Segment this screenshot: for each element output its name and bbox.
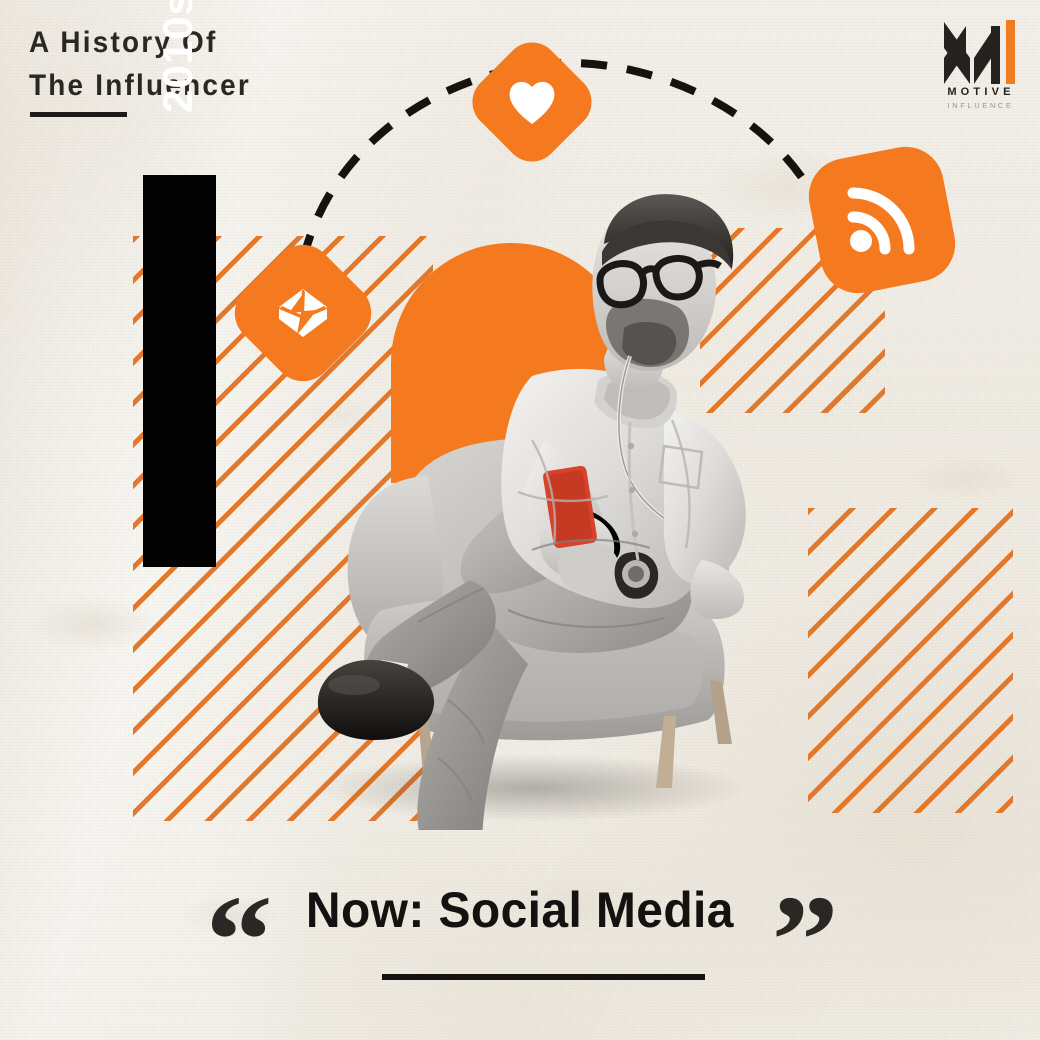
caption-underline-rule	[382, 974, 705, 980]
quote-close-mark: ”	[771, 876, 834, 1004]
stripe-block-right	[808, 508, 1013, 813]
era-badge-label: 2010s	[143, 0, 216, 248]
logo-wordmark: MOTIVE	[936, 86, 1022, 98]
rss-waves-glyph	[841, 179, 923, 261]
envelope-glyph	[275, 285, 331, 341]
motive-influence-monogram-icon	[936, 14, 1022, 84]
page-title: A History Of The Influencer	[29, 22, 420, 107]
quote-open-mark: “	[206, 876, 269, 1004]
heart-glyph	[507, 78, 557, 126]
brand-logo: MOTIVE INFLUENCE	[936, 14, 1022, 118]
poster-canvas: A History Of The Influencer MOTIVE INFLU…	[0, 0, 1040, 1040]
man-in-armchair-with-phone	[232, 140, 832, 830]
caption-block: “ Now: Social Media ”	[0, 860, 1040, 960]
title-underline-rule	[30, 112, 127, 117]
caption-text: Now: Social Media	[306, 881, 734, 939]
logo-subtext: INFLUENCE	[936, 101, 1022, 110]
